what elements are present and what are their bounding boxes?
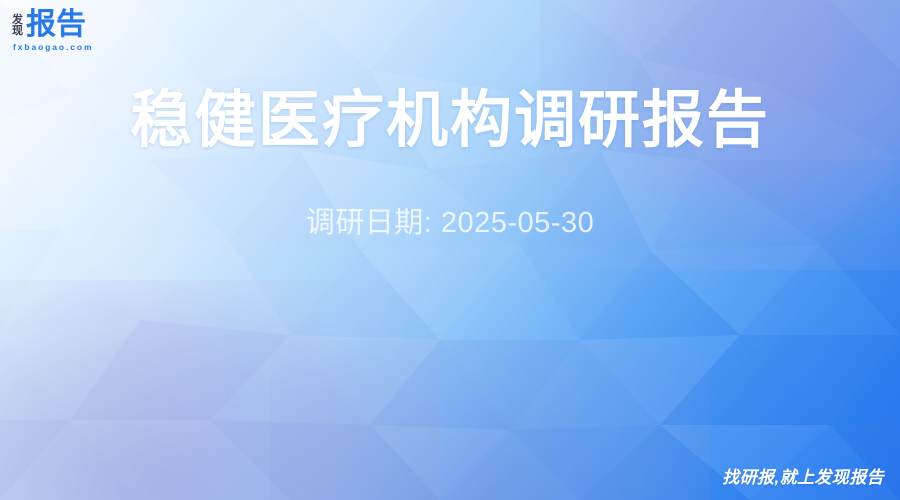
- logo-mark-bottom-char: 现: [12, 26, 23, 37]
- brand-logo[interactable]: 发 现 报告 fxbaogao.com: [12, 10, 93, 52]
- logo-row: 发 现 报告: [12, 10, 86, 40]
- logo-url: fxbaogao.com: [13, 42, 93, 52]
- footer-tagline: 找研报,就上发现报告: [722, 463, 884, 488]
- logo-wordmark: 报告: [26, 10, 86, 40]
- report-cover: 发 现 报告 fxbaogao.com 稳健医疗机构调研报告 调研日期: 202…: [0, 0, 900, 500]
- logo-mark-stack: 发 现: [12, 15, 23, 40]
- low-poly-background-pattern: [0, 0, 900, 500]
